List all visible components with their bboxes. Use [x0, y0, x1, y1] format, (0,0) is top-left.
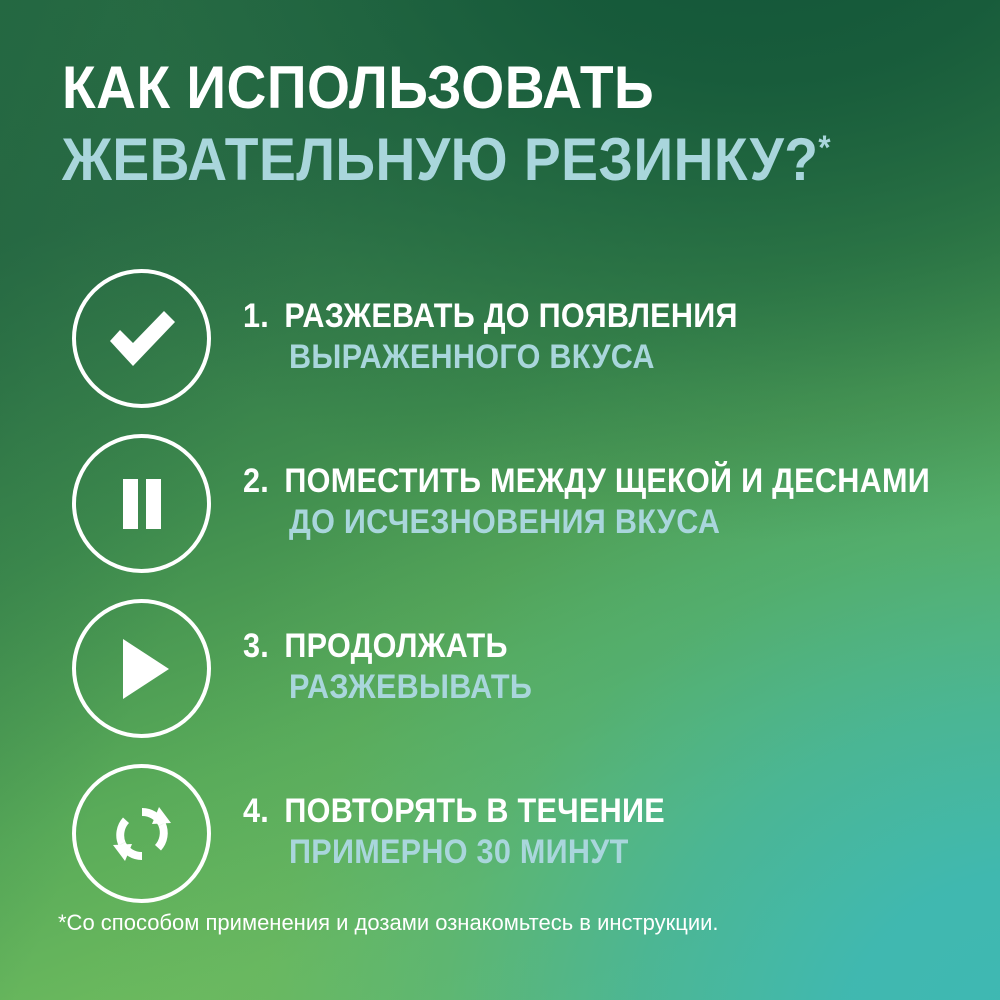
- title-asterisk: *: [818, 129, 831, 167]
- page-title: КАК ИСПОЛЬЗОВАТЬ ЖЕВАТЕЛЬНУЮ РЕЗИНКУ?*: [62, 52, 962, 196]
- step-3-icon-circle: [72, 599, 211, 738]
- list-item: 3.ПРОДОЛЖАТЬ РАЗЖЕВЫВАТЬ: [0, 586, 1000, 751]
- list-item: 2.ПОМЕСТИТЬ МЕЖДУ ЩЕКОЙ И ДЕСНАМИ ДО ИСЧ…: [0, 421, 1000, 586]
- step-3-text: 3.ПРОДОЛЖАТЬ РАЗЖЕВЫВАТЬ: [243, 626, 559, 712]
- title-line-2-text: ЖЕВАТЕЛЬНУЮ РЕЗИНКУ?: [62, 126, 818, 193]
- step-4-line-1: 4.ПОВТОРЯТЬ В ТЕЧЕНИЕ: [243, 791, 665, 831]
- step-1-number: 1.: [243, 296, 284, 336]
- step-1-line-1-text: РАЗЖЕВАТЬ ДО ПОЯВЛЕНИЯ: [284, 297, 737, 335]
- refresh-icon: [103, 795, 181, 873]
- list-item: 4.ПОВТОРЯТЬ В ТЕЧЕНИЕ ПРИМЕРНО 30 МИНУТ: [0, 751, 1000, 916]
- title-line-1: КАК ИСПОЛЬЗОВАТЬ: [62, 52, 890, 124]
- pause-icon: [106, 468, 178, 540]
- step-4-line-1-text: ПОВТОРЯТЬ В ТЕЧЕНИЕ: [284, 792, 665, 830]
- step-2-text: 2.ПОМЕСТИТЬ МЕЖДУ ЩЕКОЙ И ДЕСНАМИ ДО ИСЧ…: [243, 461, 1000, 547]
- step-2-line-1-text: ПОМЕСТИТЬ МЕЖДУ ЩЕКОЙ И ДЕСНАМИ: [284, 462, 930, 500]
- step-4-number: 4.: [243, 791, 284, 831]
- poster-content: КАК ИСПОЛЬЗОВАТЬ ЖЕВАТЕЛЬНУЮ РЕЗИНКУ?* 1…: [0, 0, 1000, 1000]
- list-item: 1.РАЗЖЕВАТЬ ДО ПОЯВЛЕНИЯ ВЫРАЖЕННОГО ВКУ…: [0, 256, 1000, 421]
- step-1-text: 1.РАЗЖЕВАТЬ ДО ПОЯВЛЕНИЯ ВЫРАЖЕННОГО ВКУ…: [243, 296, 793, 382]
- step-1-line-2: ВЫРАЖЕННОГО ВКУСА: [289, 336, 742, 378]
- step-2-icon-circle: [72, 434, 211, 573]
- steps-list: 1.РАЗЖЕВАТЬ ДО ПОЯВЛЕНИЯ ВЫРАЖЕННОГО ВКУ…: [0, 256, 1000, 916]
- step-4-text: 4.ПОВТОРЯТЬ В ТЕЧЕНИЕ ПРИМЕРНО 30 МИНУТ: [243, 791, 712, 877]
- title-line-2: ЖЕВАТЕЛЬНУЮ РЕЗИНКУ?*: [62, 124, 890, 196]
- step-2-line-1: 2.ПОМЕСТИТЬ МЕЖДУ ЩЕКОЙ И ДЕСНАМИ: [243, 461, 930, 501]
- step-2-line-2: ДО ИСЧЕЗНОВЕНИЯ ВКУСА: [289, 501, 935, 543]
- infographic-poster: КАК ИСПОЛЬЗОВАТЬ ЖЕВАТЕЛЬНУЮ РЕЗИНКУ?* 1…: [0, 0, 1000, 1000]
- step-4-line-2: ПРИМЕРНО 30 МИНУТ: [289, 831, 670, 873]
- play-icon: [103, 630, 181, 708]
- step-4-icon-circle: [72, 764, 211, 903]
- step-3-line-2: РАЗЖЕВЫВАТЬ: [289, 666, 532, 708]
- step-1-line-1: 1.РАЗЖЕВАТЬ ДО ПОЯВЛЕНИЯ: [243, 296, 738, 336]
- step-2-number: 2.: [243, 461, 284, 501]
- step-3-line-1: 3.ПРОДОЛЖАТЬ: [243, 626, 528, 666]
- checkmark-icon: [100, 297, 184, 381]
- step-1-icon-circle: [72, 269, 211, 408]
- step-3-line-1-text: ПРОДОЛЖАТЬ: [284, 627, 507, 665]
- step-3-number: 3.: [243, 626, 284, 666]
- footnote: *Со способом применения и дозами ознаком…: [58, 908, 719, 938]
